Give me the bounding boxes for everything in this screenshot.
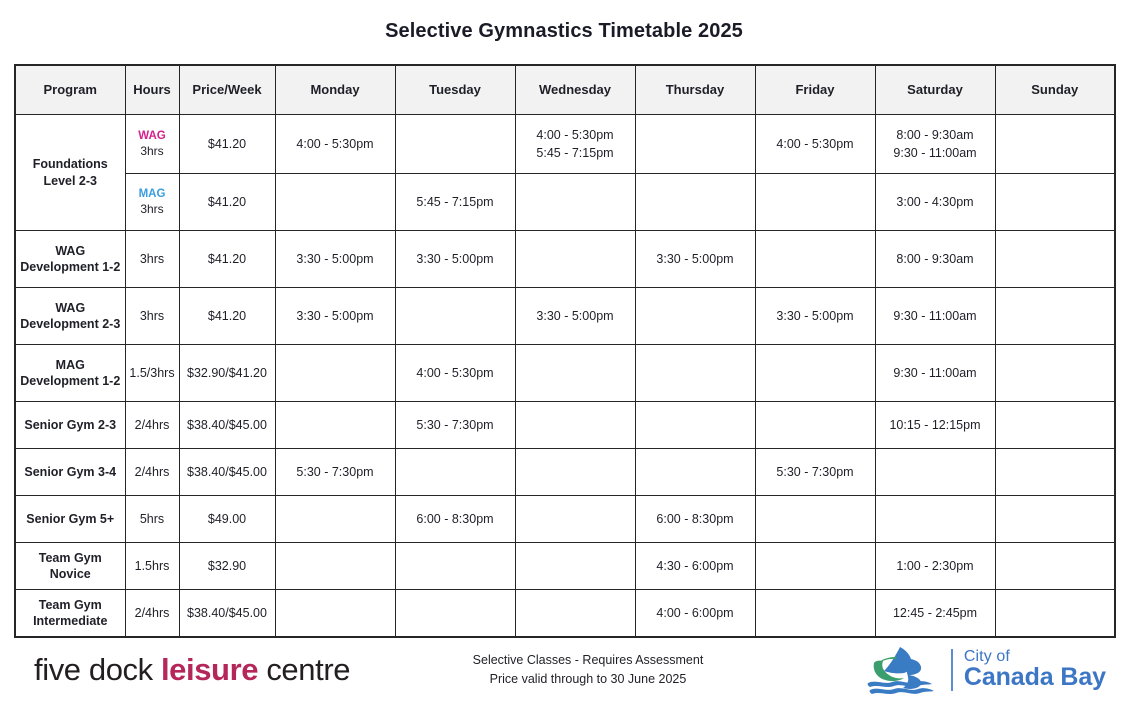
session-cell-saturday: 9:30 - 11:00am (875, 345, 995, 402)
session-cell-tuesday: 3:30 - 5:00pm (395, 231, 515, 288)
session-cell-saturday: 8:00 - 9:30am (875, 231, 995, 288)
session-cell-tuesday (395, 590, 515, 638)
session-cell-wednesday (515, 174, 635, 231)
program-name-cell: WAG Development 2-3 (15, 288, 125, 345)
table-body: Foundations Level 2-3WAG3hrs$41.204:00 -… (15, 115, 1115, 638)
logo-text-part3: centre (258, 652, 350, 687)
session-cell-tuesday (395, 115, 515, 174)
session-cell-sunday (995, 174, 1115, 231)
footer-note-line2: Price valid through to 30 June 2025 (473, 670, 704, 689)
program-name-cell: Team Gym Novice (15, 543, 125, 590)
session-cell-wednesday (515, 449, 635, 496)
column-header-saturday: Saturday (875, 65, 995, 115)
session-cell-wednesday (515, 590, 635, 638)
logo-divider (951, 649, 953, 691)
column-header-friday: Friday (755, 65, 875, 115)
session-cell-saturday: 1:00 - 2:30pm (875, 543, 995, 590)
table-row: MAG Development 1-21.5/3hrs$32.90/$41.20… (15, 345, 1115, 402)
session-cell-friday (755, 402, 875, 449)
table-row: Team Gym Novice1.5hrs$32.904:30 - 6:00pm… (15, 543, 1115, 590)
program-name-cell: Team Gym Intermediate (15, 590, 125, 638)
session-cell-friday (755, 174, 875, 231)
session-cell-wednesday (515, 496, 635, 543)
header-row: Program Hours Price/Week Monday Tuesday … (15, 65, 1115, 115)
session-cell-thursday: 6:00 - 8:30pm (635, 496, 755, 543)
table-header: Program Hours Price/Week Monday Tuesday … (15, 65, 1115, 115)
discipline-label: MAG (129, 187, 176, 202)
logo-text-part2: leisure (161, 652, 258, 687)
hours-cell: 3hrs (125, 231, 179, 288)
price-cell: $38.40/$45.00 (179, 590, 275, 638)
hours-cell: 5hrs (125, 496, 179, 543)
session-cell-wednesday (515, 543, 635, 590)
session-cell-monday (275, 345, 395, 402)
session-cell-friday (755, 345, 875, 402)
session-cell-tuesday: 5:30 - 7:30pm (395, 402, 515, 449)
session-cell-tuesday: 5:45 - 7:15pm (395, 174, 515, 231)
table-row: Foundations Level 2-3WAG3hrs$41.204:00 -… (15, 115, 1115, 174)
session-cell-tuesday: 4:00 - 5:30pm (395, 345, 515, 402)
price-cell: $38.40/$45.00 (179, 402, 275, 449)
session-cell-sunday (995, 115, 1115, 174)
table-row: WAG Development 2-33hrs$41.203:30 - 5:00… (15, 288, 1115, 345)
page-title: Selective Gymnastics Timetable 2025 (0, 0, 1128, 43)
council-name: Canada Bay (964, 665, 1106, 691)
session-cell-friday: 4:00 - 5:30pm (755, 115, 875, 174)
session-cell-thursday (635, 288, 755, 345)
program-name-cell: Foundations Level 2-3 (15, 115, 125, 231)
price-cell: $41.20 (179, 231, 275, 288)
session-cell-thursday: 3:30 - 5:00pm (635, 231, 755, 288)
hours-value: 3hrs (129, 202, 176, 218)
session-cell-saturday (875, 496, 995, 543)
table-row: WAG Development 1-23hrs$41.203:30 - 5:00… (15, 231, 1115, 288)
price-cell: $38.40/$45.00 (179, 449, 275, 496)
footer-note: Selective Classes - Requires Assessment … (473, 651, 704, 690)
session-cell-thursday (635, 345, 755, 402)
price-cell: $32.90 (179, 543, 275, 590)
session-cell-friday (755, 590, 875, 638)
column-header-wednesday: Wednesday (515, 65, 635, 115)
session-cell-saturday: 9:30 - 11:00am (875, 288, 995, 345)
timetable-page: Selective Gymnastics Timetable 2025 Prog… (0, 0, 1128, 711)
session-cell-monday: 3:30 - 5:00pm (275, 288, 395, 345)
column-header-thursday: Thursday (635, 65, 755, 115)
column-header-sunday: Sunday (995, 65, 1115, 115)
session-cell-wednesday (515, 345, 635, 402)
session-cell-sunday (995, 231, 1115, 288)
page-footer: five dock leisure centre Selective Class… (0, 635, 1128, 711)
price-cell: $41.20 (179, 288, 275, 345)
session-cell-friday (755, 231, 875, 288)
hours-cell: 2/4hrs (125, 449, 179, 496)
session-cell-monday (275, 496, 395, 543)
table-row: Senior Gym 2-32/4hrs$38.40/$45.005:30 - … (15, 402, 1115, 449)
session-cell-thursday: 4:30 - 6:00pm (635, 543, 755, 590)
logo-text-part1: five dock (34, 652, 161, 687)
session-cell-saturday: 3:00 - 4:30pm (875, 174, 995, 231)
hours-cell: WAG3hrs (125, 115, 179, 174)
table-row: Team Gym Intermediate2/4hrs$38.40/$45.00… (15, 590, 1115, 638)
session-cell-sunday (995, 402, 1115, 449)
session-cell-sunday (995, 590, 1115, 638)
session-cell-tuesday (395, 449, 515, 496)
session-time: 9:30 - 11:00am (879, 144, 992, 162)
session-cell-saturday: 10:15 - 12:15pm (875, 402, 995, 449)
session-cell-thursday (635, 449, 755, 496)
table-row: MAG3hrs$41.205:45 - 7:15pm3:00 - 4:30pm (15, 174, 1115, 231)
discipline-label: WAG (129, 129, 176, 144)
session-cell-tuesday: 6:00 - 8:30pm (395, 496, 515, 543)
city-of-canada-bay-logo: City of Canada Bay (866, 643, 1106, 697)
session-cell-friday: 5:30 - 7:30pm (755, 449, 875, 496)
session-time: 4:00 - 5:30pm (519, 126, 632, 144)
session-cell-friday: 3:30 - 5:00pm (755, 288, 875, 345)
table-row: Senior Gym 3-42/4hrs$38.40/$45.005:30 - … (15, 449, 1115, 496)
session-cell-saturday: 8:00 - 9:30am9:30 - 11:00am (875, 115, 995, 174)
session-cell-thursday: 4:00 - 6:00pm (635, 590, 755, 638)
session-cell-monday: 3:30 - 5:00pm (275, 231, 395, 288)
session-cell-friday (755, 543, 875, 590)
price-cell: $41.20 (179, 115, 275, 174)
table-row: Senior Gym 5+5hrs$49.006:00 - 8:30pm6:00… (15, 496, 1115, 543)
hours-cell: 1.5hrs (125, 543, 179, 590)
session-cell-wednesday: 4:00 - 5:30pm5:45 - 7:15pm (515, 115, 635, 174)
hours-cell: 3hrs (125, 288, 179, 345)
session-cell-monday: 5:30 - 7:30pm (275, 449, 395, 496)
timetable-container: Program Hours Price/Week Monday Tuesday … (0, 43, 1128, 638)
column-header-tuesday: Tuesday (395, 65, 515, 115)
canada-bay-sail-icon (866, 643, 940, 697)
session-cell-monday (275, 543, 395, 590)
session-cell-wednesday (515, 402, 635, 449)
session-cell-wednesday: 3:30 - 5:00pm (515, 288, 635, 345)
hours-cell: 1.5/3hrs (125, 345, 179, 402)
column-header-monday: Monday (275, 65, 395, 115)
session-cell-monday (275, 590, 395, 638)
hours-cell: MAG3hrs (125, 174, 179, 231)
session-cell-monday (275, 174, 395, 231)
price-cell: $49.00 (179, 496, 275, 543)
session-time: 8:00 - 9:30am (879, 126, 992, 144)
session-cell-sunday (995, 288, 1115, 345)
session-cell-sunday (995, 345, 1115, 402)
session-cell-thursday (635, 402, 755, 449)
hours-value: 3hrs (129, 144, 176, 160)
program-name-cell: Senior Gym 2-3 (15, 402, 125, 449)
column-header-price: Price/Week (179, 65, 275, 115)
session-cell-monday: 4:00 - 5:30pm (275, 115, 395, 174)
canada-bay-wordmark: City of Canada Bay (964, 649, 1106, 691)
hours-cell: 2/4hrs (125, 590, 179, 638)
session-cell-sunday (995, 449, 1115, 496)
program-name-cell: WAG Development 1-2 (15, 231, 125, 288)
column-header-program: Program (15, 65, 125, 115)
program-name-cell: Senior Gym 5+ (15, 496, 125, 543)
hours-cell: 2/4hrs (125, 402, 179, 449)
gymnastics-timetable: Program Hours Price/Week Monday Tuesday … (14, 64, 1116, 638)
price-cell: $32.90/$41.20 (179, 345, 275, 402)
session-time: 5:45 - 7:15pm (519, 144, 632, 162)
footer-note-line1: Selective Classes - Requires Assessment (473, 651, 704, 670)
program-name-cell: MAG Development 1-2 (15, 345, 125, 402)
five-dock-leisure-centre-logo: five dock leisure centre (34, 652, 350, 688)
session-cell-sunday (995, 543, 1115, 590)
price-cell: $41.20 (179, 174, 275, 231)
session-cell-tuesday (395, 288, 515, 345)
session-cell-wednesday (515, 231, 635, 288)
session-cell-saturday (875, 449, 995, 496)
session-cell-thursday (635, 174, 755, 231)
session-cell-friday (755, 496, 875, 543)
session-cell-saturday: 12:45 - 2:45pm (875, 590, 995, 638)
session-cell-tuesday (395, 543, 515, 590)
program-name-cell: Senior Gym 3-4 (15, 449, 125, 496)
session-cell-thursday (635, 115, 755, 174)
column-header-hours: Hours (125, 65, 179, 115)
session-cell-monday (275, 402, 395, 449)
session-cell-sunday (995, 496, 1115, 543)
